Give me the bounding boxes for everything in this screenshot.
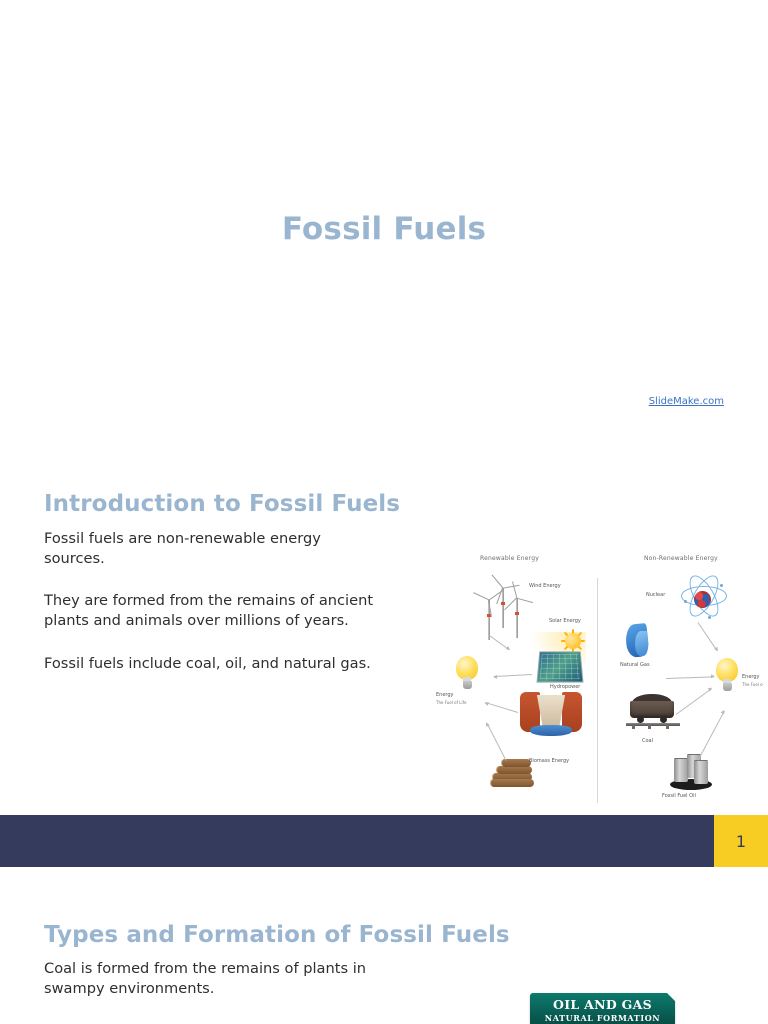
nuclear-atom-icon (680, 580, 726, 622)
label-coal: Coal (642, 738, 653, 744)
footer-bar (0, 815, 714, 867)
label-wind-energy: Wind Energy (529, 583, 561, 589)
section-heading-types-and-formation: Types and Formation of Fossil Fuels (44, 922, 510, 948)
label-nuclear: Nuclear (646, 592, 665, 598)
introduction-body-text: Fossil fuels are non-renewable energy so… (44, 529, 374, 673)
wind-turbine-icon (504, 586, 530, 638)
oil-barrels-icon (670, 754, 712, 790)
lightbulb-icon (454, 656, 480, 690)
wind-turbine-icon (476, 588, 502, 640)
flow-arrow (486, 723, 506, 761)
label-energy-sub-right: The Fuel of Life (742, 682, 763, 687)
deck-title: Fossil Fuels (0, 211, 768, 247)
diagram-divider (597, 578, 598, 803)
paragraph: Fossil fuels are non-renewable energy so… (44, 529, 374, 568)
label-energy-right: Energy (742, 674, 760, 680)
label-solar-energy: Solar Energy (549, 618, 581, 624)
label-energy-sub-left: The Fuel of Life (436, 700, 467, 705)
lightbulb-icon (714, 658, 740, 692)
diagram-header-renewable: Renewable Energy (480, 555, 539, 562)
banner-subtitle: NATURAL FORMATION (530, 1013, 675, 1023)
slide-types-and-formation: Types and Formation of Fossil Fuels Coal… (0, 867, 768, 1024)
slide-introduction: Introduction to Fossil Fuels Fossil fuel… (0, 432, 768, 864)
diagram-header-non-renewable: Non-Renewable Energy (644, 555, 718, 562)
paragraph: Coal is formed from the remains of plant… (44, 959, 374, 998)
flow-arrow (485, 702, 518, 713)
sun-icon (561, 629, 585, 653)
flow-arrow (666, 676, 714, 679)
label-energy-left: Energy (436, 692, 454, 698)
slidemake-credit-link[interactable]: SlideMake.com (649, 396, 724, 407)
banner-title: OIL AND GAS (530, 997, 675, 1012)
label-biomass-energy: Biomass Energy (529, 758, 569, 764)
flow-arrow (676, 688, 712, 715)
ribbon-fold (667, 993, 676, 1002)
flow-arrow (494, 674, 532, 677)
paragraph: They are formed from the remains of anci… (44, 591, 374, 630)
oil-and-gas-formation-figure: OIL AND GAS NATURAL FORMATION (432, 975, 763, 1024)
label-hydropower: Hydropower (550, 684, 580, 690)
slide-deck-document: Fossil Fuels SlideMake.com Introduction … (0, 0, 768, 1024)
coal-wagon-icon (626, 694, 680, 732)
solar-panel-icon (536, 651, 583, 682)
label-fossil-fuel-oil: Fossil Fuel Oil (662, 793, 696, 799)
label-natural-gas: Natural Gas (620, 662, 650, 668)
page-number-badge: 1 (714, 815, 768, 867)
section-heading-introduction: Introduction to Fossil Fuels (44, 491, 400, 517)
types-body-text: Coal is formed from the remains of plant… (44, 959, 374, 998)
energy-sources-diagram: Renewable Energy Non-Renewable Energy (432, 546, 763, 814)
paragraph: Fossil fuels include coal, oil, and natu… (44, 654, 374, 674)
oil-and-gas-banner: OIL AND GAS NATURAL FORMATION (530, 993, 675, 1024)
hydropower-dam-icon (520, 692, 582, 736)
slide-title: Fossil Fuels SlideMake.com (0, 0, 768, 432)
slide-footer-band: 1 (0, 815, 768, 867)
flow-arrow (698, 622, 718, 651)
natural-gas-flame-icon (626, 622, 652, 658)
